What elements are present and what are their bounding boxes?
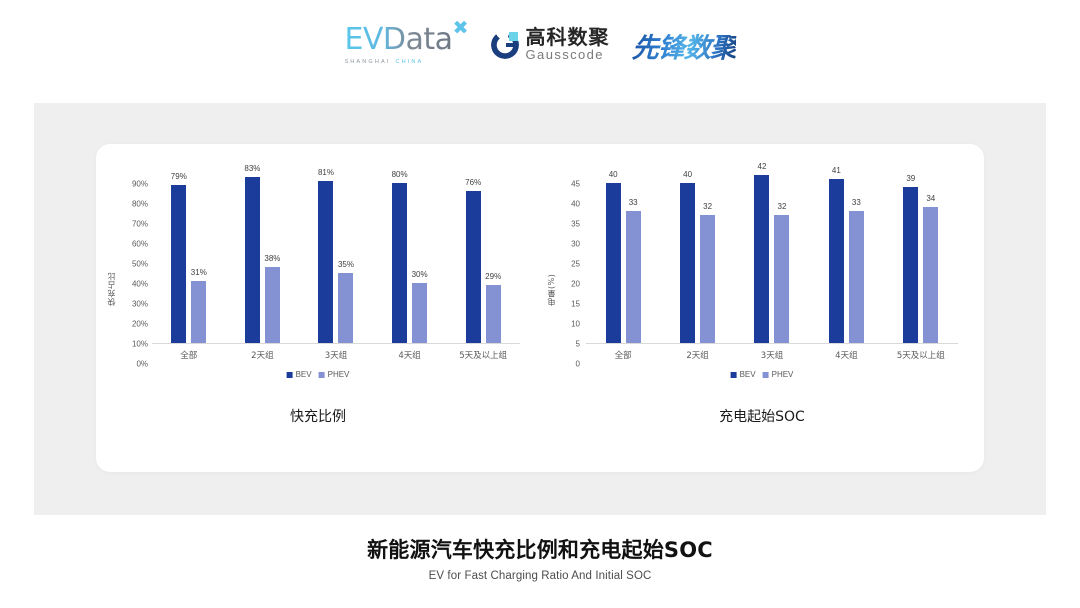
bar-bev[interactable]: 79% — [171, 185, 186, 343]
bar-group: 79%31% — [152, 164, 226, 343]
gausscode-mark-icon — [491, 31, 519, 59]
legend-item-bev[interactable]: BEV — [731, 370, 756, 379]
bar-phev[interactable]: 38% — [265, 267, 280, 343]
evdata-tagline-city: SHANGHAI — [344, 59, 390, 65]
y-axis-tick: 0% — [122, 360, 148, 369]
y-axis-tick: 30% — [122, 300, 148, 309]
bar-value-label: 80% — [392, 170, 408, 179]
bar-group: 4032 — [660, 164, 734, 343]
bar-bev[interactable]: 81% — [318, 181, 333, 343]
bar-value-label: 81% — [318, 168, 334, 177]
chart-initial-soc: 电量(%) 454035302520151050 403340324232413… — [540, 144, 984, 472]
bar-value-label: 38% — [264, 254, 280, 263]
bar-bev[interactable]: 80% — [392, 183, 407, 343]
bar-bev[interactable]: 40 — [680, 183, 695, 343]
y-axis-tick: 90% — [122, 180, 148, 189]
x-axis-tick: 5天及以上组 — [459, 349, 507, 361]
y-axis-tick: 25 — [558, 260, 580, 269]
bar-phev[interactable]: 35% — [338, 273, 353, 343]
x-axis-right: 全部2天组3天组4天组5天及以上组 — [586, 344, 958, 364]
gausscode-name-cn: 高科数聚 — [526, 27, 610, 48]
bar-bev[interactable]: 41 — [829, 179, 844, 343]
y-axis-label-left: 快充占比 — [106, 236, 117, 306]
y-axis-tick: 10 — [558, 320, 580, 329]
plot-area-right: 40334032423241333934 — [586, 164, 958, 344]
x-axis-tick: 全部 — [180, 349, 197, 361]
evdata-tagline: SHANGHAI CHINA — [344, 59, 452, 65]
bar-value-label: 39 — [906, 174, 915, 183]
legend-item-bev[interactable]: BEV — [287, 370, 312, 379]
bar-group: 76%29% — [446, 164, 520, 343]
bar-value-label: 40 — [609, 170, 618, 179]
y-axis-tick: 60% — [122, 240, 148, 249]
y-axis-tick: 40 — [558, 200, 580, 209]
bar-bev[interactable]: 40 — [606, 183, 621, 343]
bar-group: 81%35% — [299, 164, 373, 343]
y-axis-tick: 30 — [558, 240, 580, 249]
y-axis-ticks-right: 454035302520151050 — [558, 164, 580, 344]
bar-value-label: 34 — [926, 194, 935, 203]
bar-value-label: 32 — [703, 202, 712, 211]
legend-label: PHEV — [772, 370, 794, 379]
bar-value-label: 41 — [832, 166, 841, 175]
y-axis-tick: 20 — [558, 280, 580, 289]
bar-group: 3934 — [884, 164, 958, 343]
x-axis-left: 全部2天组3天组4天组5天及以上组 — [152, 344, 520, 364]
bar-bev[interactable]: 42 — [754, 175, 769, 343]
x-axis-tick: 4天组 — [398, 349, 420, 361]
x-axis-tick: 3天组 — [761, 349, 783, 361]
bar-phev[interactable]: 30% — [412, 283, 427, 343]
bar-phev[interactable]: 33 — [849, 211, 864, 343]
y-axis-tick: 20% — [122, 320, 148, 329]
x-axis-tick: 3天组 — [325, 349, 347, 361]
x-axis-tick: 2天组 — [251, 349, 273, 361]
x-axis-tick: 2天组 — [686, 349, 708, 361]
bar-value-label: 76% — [465, 178, 481, 187]
y-axis-ticks-left: 90%80%70%60%50%40%30%20%10%0% — [122, 164, 148, 344]
logo-gausscode: 高科数聚 Gausscode — [491, 27, 610, 62]
legend-label: BEV — [740, 370, 756, 379]
bar-bev[interactable]: 76% — [466, 191, 481, 343]
bar-value-label: 42 — [758, 162, 767, 171]
legend-swatch — [319, 372, 325, 378]
charts-row: 快充占比 90%80%70%60%50%40%30%20%10%0% 79%31… — [96, 144, 984, 472]
bar-group: 80%30% — [373, 164, 447, 343]
bar-phev[interactable]: 34 — [923, 207, 938, 343]
legend-left: BEVPHEV — [287, 370, 350, 379]
content-panel: 快充占比 90%80%70%60%50%40%30%20%10%0% 79%31… — [34, 103, 1046, 515]
bar-value-label: 83% — [244, 164, 260, 173]
bar-phev[interactable]: 32 — [774, 215, 789, 343]
bar-group: 4232 — [735, 164, 809, 343]
bar-group: 83%38% — [226, 164, 300, 343]
legend-label: BEV — [296, 370, 312, 379]
legend-item-phev[interactable]: PHEV — [319, 370, 350, 379]
evdata-wordmark: EVData — [344, 25, 452, 55]
y-axis-tick: 5 — [558, 340, 580, 349]
bar-group: 4133 — [809, 164, 883, 343]
y-axis-tick: 45 — [558, 180, 580, 189]
bar-value-label: 32 — [778, 202, 787, 211]
bar-value-label: 33 — [852, 198, 861, 207]
bar-group: 4033 — [586, 164, 660, 343]
y-axis-tick: 35 — [558, 220, 580, 229]
bar-value-label: 30% — [412, 270, 428, 279]
bar-value-label: 35% — [338, 260, 354, 269]
legend-item-phev[interactable]: PHEV — [763, 370, 794, 379]
legend-right: BEVPHEV — [731, 370, 794, 379]
bar-value-label: 33 — [629, 198, 638, 207]
y-axis-tick: 10% — [122, 340, 148, 349]
legend-swatch — [731, 372, 737, 378]
y-axis-tick: 50% — [122, 260, 148, 269]
legend-swatch — [763, 372, 769, 378]
y-axis-tick: 40% — [122, 280, 148, 289]
x-axis-tick: 全部 — [615, 349, 632, 361]
bar-bev[interactable]: 83% — [245, 177, 260, 343]
y-axis-tick: 70% — [122, 220, 148, 229]
page-subtitle: EV for Fast Charging Ratio And Initial S… — [0, 570, 1080, 582]
x-axis-tick: 4天组 — [835, 349, 857, 361]
plot-area-left: 79%31%83%38%81%35%80%30%76%29% — [152, 164, 520, 344]
chart-fast-charging-ratio: 快充占比 90%80%70%60%50%40%30%20%10%0% 79%31… — [96, 144, 540, 472]
bar-phev[interactable]: 33 — [626, 211, 641, 343]
logo-xianfeng: 先锋数聚 — [631, 26, 736, 65]
y-axis-tick: 80% — [122, 200, 148, 209]
bar-bev[interactable]: 39 — [903, 187, 918, 343]
legend-swatch — [287, 372, 293, 378]
chart-caption-left: 快充比例 — [96, 406, 540, 426]
logo-evdata: EVData ✖ SHANGHAI CHINA — [344, 25, 468, 65]
bar-value-label: 40 — [683, 170, 692, 179]
bar-phev[interactable]: 31% — [191, 281, 206, 343]
bar-phev[interactable]: 29% — [486, 285, 501, 343]
legend-label: PHEV — [328, 370, 350, 379]
bar-value-label: 31% — [191, 268, 207, 277]
bar-value-label: 29% — [485, 272, 501, 281]
charts-card: 快充占比 90%80%70%60%50%40%30%20%10%0% 79%31… — [96, 144, 984, 472]
x-mark-icon: ✖ — [453, 19, 469, 38]
page-title: 新能源汽车快充比例和充电起始SOC — [0, 534, 1080, 564]
bar-phev[interactable]: 32 — [700, 215, 715, 343]
y-axis-tick: 0 — [558, 360, 580, 369]
evdata-tagline-country: CHINA — [395, 59, 423, 65]
y-axis-tick: 15 — [558, 300, 580, 309]
bar-value-label: 79% — [171, 172, 187, 181]
y-axis-label-right: 电量(%) — [546, 236, 557, 306]
gausscode-name-en: Gausscode — [526, 48, 610, 62]
chart-caption-right: 充电起始SOC — [540, 406, 984, 426]
logo-bar: EVData ✖ SHANGHAI CHINA 高科数聚 Gausscode 先… — [0, 0, 1080, 90]
x-axis-tick: 5天及以上组 — [897, 349, 945, 361]
